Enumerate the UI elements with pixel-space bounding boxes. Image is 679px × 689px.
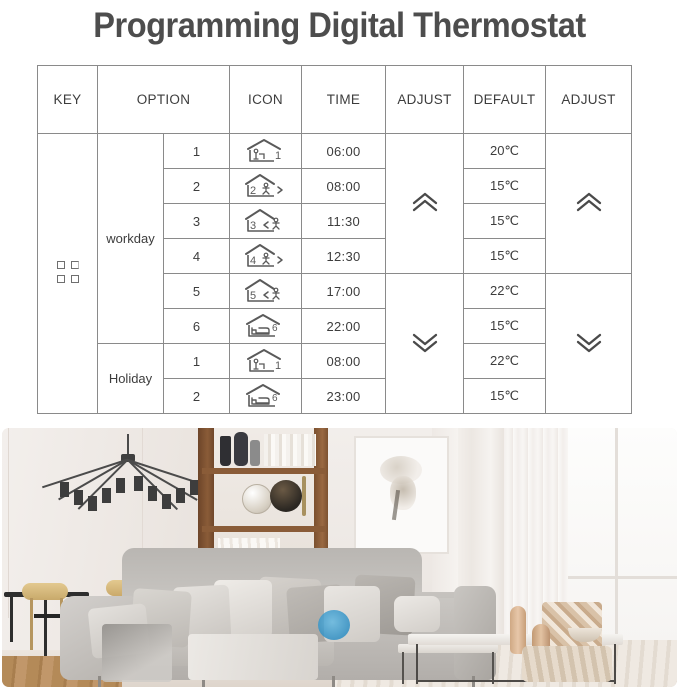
- table-row: Holiday 1 1 08:00 22℃: [38, 344, 632, 379]
- svg-text:6: 6: [272, 393, 278, 404]
- window-mullion: [615, 428, 618, 648]
- default-temp: 15℃: [464, 309, 546, 344]
- icon-cell-workday-4: 4: [230, 239, 302, 274]
- fur-rug: [522, 646, 612, 682]
- period-number: 6: [164, 309, 230, 344]
- double-chevron-up-icon[interactable]: [572, 189, 606, 215]
- header-icon: ICON: [230, 66, 302, 134]
- adjust-down-right-cell[interactable]: [546, 274, 632, 414]
- window-mullion: [558, 576, 677, 579]
- double-chevron-down-icon[interactable]: [408, 329, 442, 355]
- icon-cell-workday-6: 6: [230, 309, 302, 344]
- default-temp: 15℃: [464, 204, 546, 239]
- decorative-orb: [242, 484, 272, 514]
- period-number: 1: [164, 344, 230, 379]
- svg-text:4: 4: [250, 255, 256, 267]
- dining-chair-leg: [30, 598, 33, 650]
- header-adjust-left: ADJUST: [386, 66, 464, 134]
- shelf-vase: [220, 436, 231, 466]
- header-key: KEY: [38, 66, 98, 134]
- shelf-vase: [234, 432, 248, 466]
- icon-cell-workday-1: 1: [230, 134, 302, 169]
- svg-text:1: 1: [275, 360, 281, 372]
- time-value: 08:00: [302, 344, 386, 379]
- chandelier-bulb: [116, 478, 125, 493]
- house-person-desk-1-icon: 1: [244, 138, 288, 165]
- chandelier-bulb: [176, 488, 185, 503]
- option-group-holiday: Holiday: [98, 344, 164, 414]
- adjust-up-right-cell[interactable]: [546, 134, 632, 274]
- living-room-photo: 35: [2, 428, 677, 687]
- chandelier-bulb: [148, 486, 157, 501]
- key-cell: [38, 134, 98, 414]
- decorative-object: [302, 476, 306, 516]
- table-row: workday 1 1 06:00: [38, 134, 632, 169]
- time-value: 12:30: [302, 239, 386, 274]
- icon-cell-workday-2: 2: [230, 169, 302, 204]
- default-temp: 15℃: [464, 169, 546, 204]
- sofa-leg: [332, 676, 335, 687]
- adjust-up-left-cell[interactable]: [386, 134, 464, 274]
- icon-cell-holiday-2: 6: [230, 379, 302, 414]
- house-bed-6-icon: 6: [243, 383, 289, 410]
- time-value: 22:00: [302, 309, 386, 344]
- time-value: 17:00: [302, 274, 386, 309]
- icon-cell-workday-5: 5: [230, 274, 302, 309]
- cushion: [394, 596, 440, 632]
- svg-text:6: 6: [272, 323, 278, 334]
- default-temp: 22℃: [464, 274, 546, 309]
- sofa-leg: [98, 676, 101, 687]
- programming-schedule-table: KEY OPTION ICON TIME ADJUST DEFAULT ADJU…: [37, 65, 631, 413]
- period-number: 5: [164, 274, 230, 309]
- dining-table-leg: [44, 596, 47, 656]
- header-adjust-right: ADJUST: [546, 66, 632, 134]
- chandelier-bulb: [60, 482, 69, 497]
- time-value: 23:00: [302, 379, 386, 414]
- icon-cell-workday-3: 3: [230, 204, 302, 239]
- chandelier-bulb: [134, 476, 143, 491]
- coffee-table-leg: [416, 644, 418, 684]
- chandelier-bulb: [162, 494, 171, 509]
- house-person-leaving-4-icon: 4: [242, 243, 290, 270]
- accent-cushion: [318, 610, 350, 640]
- double-chevron-down-icon[interactable]: [572, 329, 606, 355]
- header-option: OPTION: [98, 66, 230, 134]
- wall-panel-line: [8, 428, 9, 618]
- side-table-leg: [402, 652, 404, 684]
- option-group-workday: workday: [98, 134, 164, 344]
- period-number: 4: [164, 239, 230, 274]
- house-person-leaving-2-icon: 2: [242, 173, 290, 200]
- icon-cell-holiday-1: 1: [230, 344, 302, 379]
- svg-text:1: 1: [275, 150, 281, 162]
- sofa-throw: [102, 624, 172, 682]
- decorative-orb: [270, 480, 302, 512]
- side-table-top: [398, 644, 498, 653]
- header-time: TIME: [302, 66, 386, 134]
- sofa-throw: [188, 634, 318, 680]
- time-value: 06:00: [302, 134, 386, 169]
- double-chevron-up-icon[interactable]: [408, 189, 442, 215]
- table-header-row: KEY OPTION ICON TIME ADJUST DEFAULT ADJU…: [38, 66, 632, 134]
- svg-text:5: 5: [250, 290, 256, 302]
- coffee-table-leg: [614, 644, 616, 684]
- period-number: 1: [164, 134, 230, 169]
- house-person-returning-3-icon: 3: [242, 208, 290, 235]
- shelf-books: [264, 434, 316, 466]
- period-number: 2: [164, 169, 230, 204]
- dining-table-leg: [10, 596, 13, 642]
- chandelier-bulb: [74, 490, 83, 505]
- adjust-down-left-cell[interactable]: [386, 274, 464, 414]
- sofa-arm-right: [454, 586, 496, 680]
- time-value: 08:00: [302, 169, 386, 204]
- page-title: Programming Digital Thermostat: [24, 0, 655, 52]
- chandelier-bulb: [88, 496, 97, 511]
- default-temp: 15℃: [464, 379, 546, 414]
- svg-text:2: 2: [250, 185, 256, 197]
- time-value: 11:30: [302, 204, 386, 239]
- house-person-returning-5-icon: 5: [242, 278, 290, 305]
- grid-2x2-icon: [57, 261, 79, 283]
- default-temp: 22℃: [464, 344, 546, 379]
- period-number: 2: [164, 379, 230, 414]
- shelf-vase: [250, 440, 260, 466]
- default-temp: 15℃: [464, 239, 546, 274]
- product-spec-page: Programming Digital Thermostat KEY OPTIO…: [0, 0, 679, 689]
- default-temp: 20℃: [464, 134, 546, 169]
- house-person-desk-1-icon: 1: [244, 348, 288, 375]
- bookshelf-shelf: [202, 468, 326, 474]
- svg-text:3: 3: [250, 220, 256, 232]
- house-bed-6-icon: 6: [243, 313, 289, 340]
- header-default: DEFAULT: [464, 66, 546, 134]
- bookshelf-shelf: [202, 526, 326, 532]
- chandelier-bulb: [102, 488, 111, 503]
- chandelier-rod: [127, 434, 129, 456]
- period-number: 3: [164, 204, 230, 239]
